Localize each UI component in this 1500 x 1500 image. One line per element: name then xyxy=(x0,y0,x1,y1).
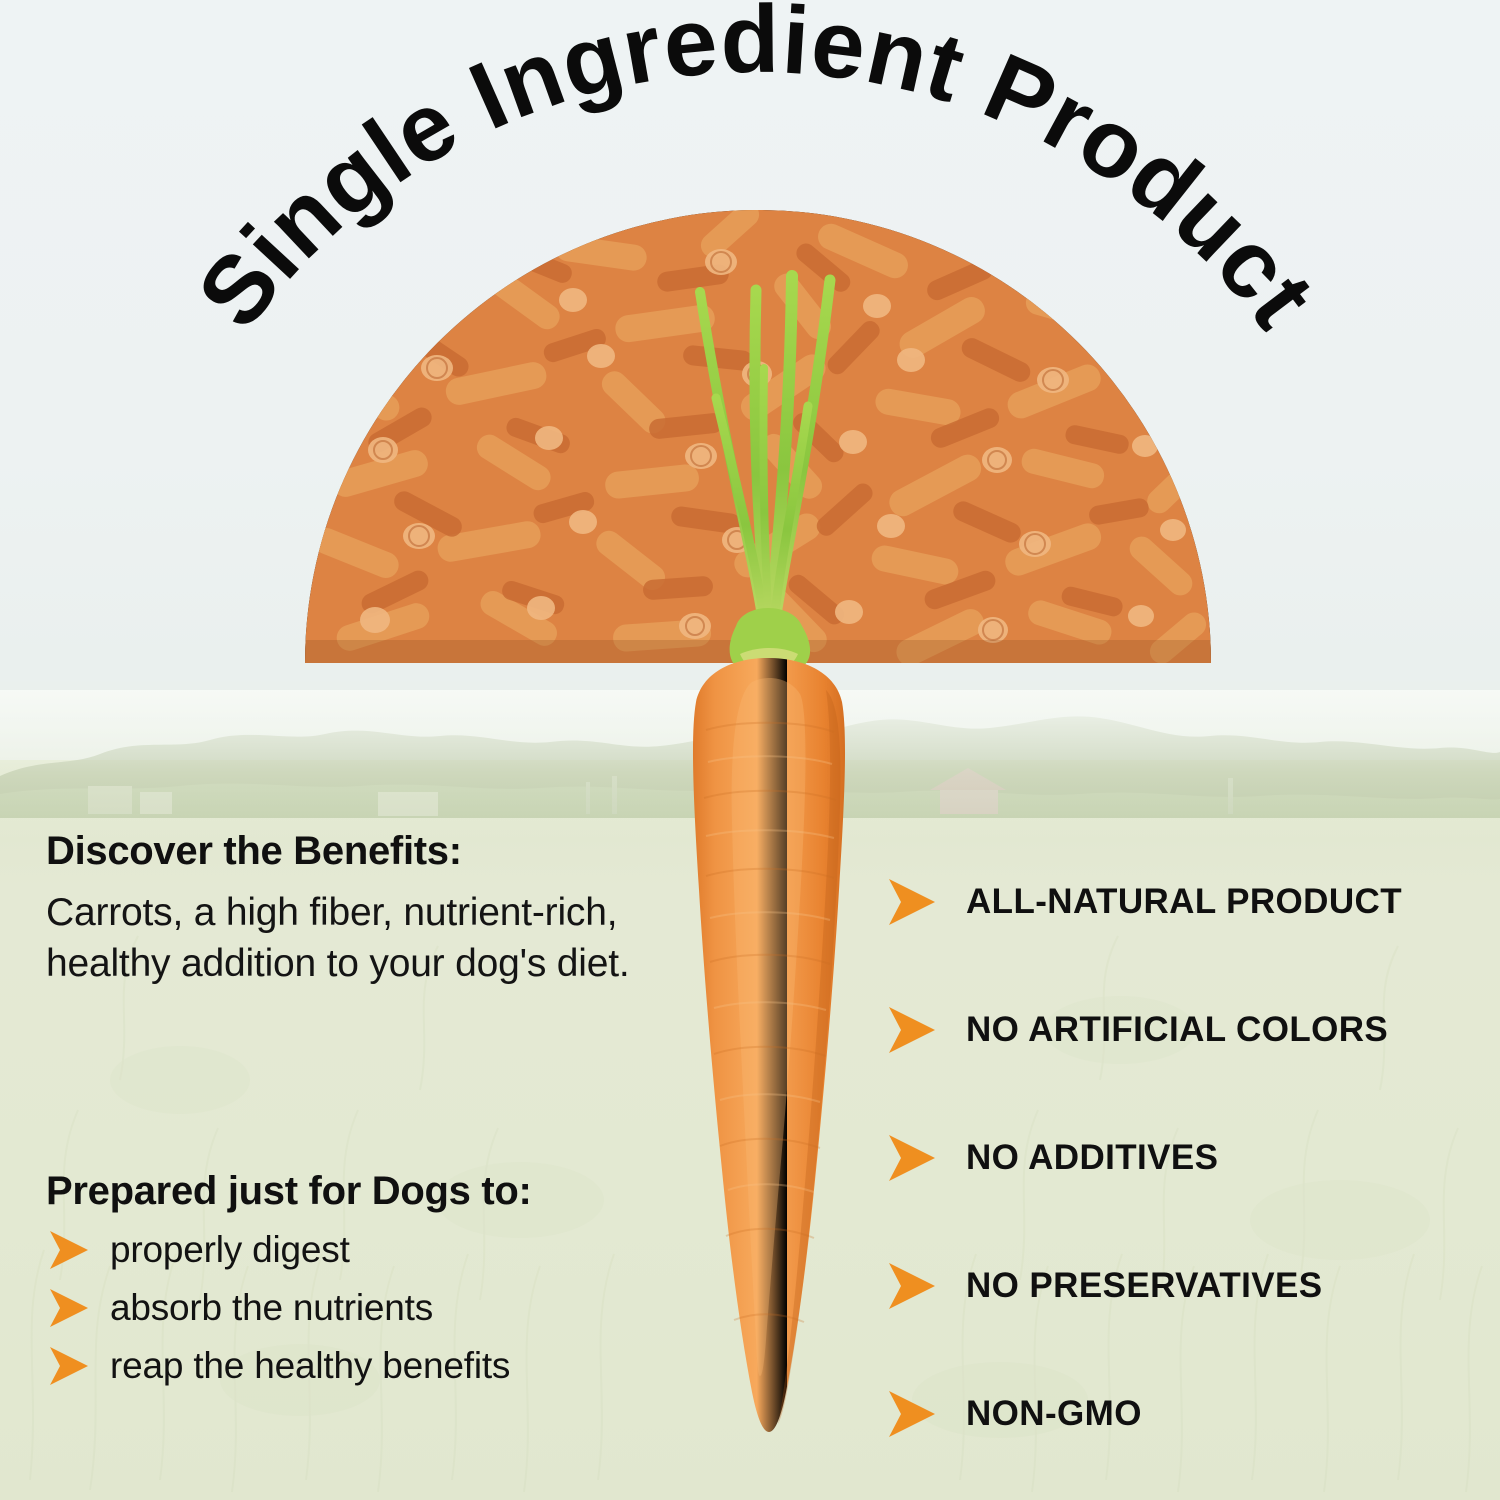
list-item: NON-GMO xyxy=(884,1350,1484,1478)
infographic-poster: Single Ingredient Product xyxy=(0,0,1500,1500)
chevron-right-icon xyxy=(46,1286,92,1330)
benefits-body: Carrots, a high fiber, nutrient-rich, he… xyxy=(46,888,686,989)
prepared-heading: Prepared just for Dogs to: xyxy=(46,1168,706,1214)
prepared-item-label: absorb the nutrients xyxy=(110,1287,433,1329)
chevron-right-icon xyxy=(46,1228,92,1272)
chevron-right-icon xyxy=(884,1004,940,1056)
list-item: ALL-NATURAL PRODUCT xyxy=(884,838,1484,966)
chevron-right-icon xyxy=(46,1344,92,1388)
list-item: NO PRESERVATIVES xyxy=(884,1222,1484,1350)
chevron-right-icon xyxy=(884,1132,940,1184)
prepared-block: Prepared just for Dogs to: properly dige… xyxy=(46,1168,706,1388)
list-item: NO ARTIFICIAL COLORS xyxy=(884,966,1484,1094)
benefits-heading: Discover the Benefits: xyxy=(46,828,686,874)
list-item: absorb the nutrients xyxy=(46,1286,706,1330)
feature-label: NO PRESERVATIVES xyxy=(966,1266,1323,1306)
prepared-item-label: reap the healthy benefits xyxy=(110,1345,510,1387)
list-item: NO ADDITIVES xyxy=(884,1094,1484,1222)
feature-label: NO ARTIFICIAL COLORS xyxy=(966,1010,1388,1050)
feature-label: ALL-NATURAL PRODUCT xyxy=(966,882,1402,922)
features-list: ALL-NATURAL PRODUCT NO ARTIFICIAL COLORS… xyxy=(884,838,1484,1478)
chevron-right-icon xyxy=(884,1260,940,1312)
feature-label: NO ADDITIVES xyxy=(966,1138,1218,1178)
chevron-right-icon xyxy=(884,1388,940,1440)
prepared-item-label: properly digest xyxy=(110,1229,350,1271)
chevron-right-icon xyxy=(884,876,940,928)
list-item: reap the healthy benefits xyxy=(46,1344,706,1388)
benefits-block: Discover the Benefits: Carrots, a high f… xyxy=(46,828,686,989)
list-item: properly digest xyxy=(46,1228,706,1272)
feature-label: NON-GMO xyxy=(966,1394,1142,1434)
